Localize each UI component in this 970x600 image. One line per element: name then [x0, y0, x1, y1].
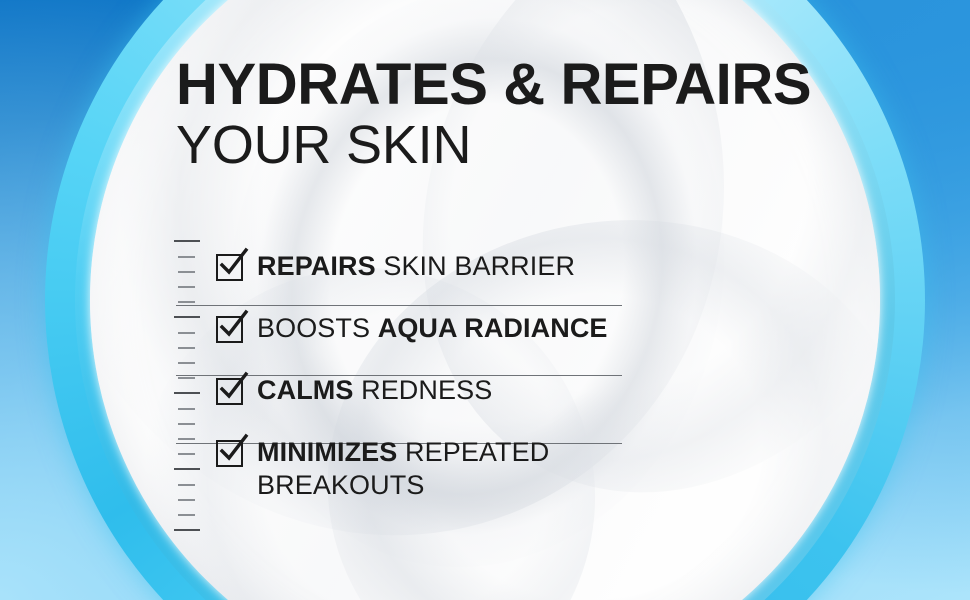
benefit-label: CALMS REDNESS	[257, 374, 492, 407]
benefit-label-bold: REPAIRS	[257, 251, 376, 281]
ruler-tick-minor	[178, 271, 195, 273]
ruler-tick-major	[174, 316, 200, 318]
benefit-label: MINIMIZES REPEATED BREAKOUTS	[257, 436, 587, 502]
ruler-tick-minor	[178, 453, 195, 455]
benefit-item-repairs: REPAIRS SKIN BARRIER	[216, 250, 686, 312]
ruler-tick-major	[174, 468, 200, 470]
content-layer: HYDRATES & REPAIRS YOUR SKIN	[0, 0, 970, 600]
benefit-label-rest: REDNESS	[354, 375, 493, 405]
ruler-tick-minor	[178, 377, 195, 379]
ruler-tick-minor	[178, 514, 195, 516]
promo-banner: HYDRATES & REPAIRS YOUR SKIN	[0, 0, 970, 600]
ruler-tick-minor	[178, 256, 195, 258]
ruler-tick-minor	[178, 499, 195, 501]
benefit-label-lead: BOOSTS	[257, 313, 378, 343]
benefit-label: BOOSTS AQUA RADIANCE	[257, 312, 608, 345]
ruler-tick-minor	[178, 423, 195, 425]
ruler-tick-major	[174, 392, 200, 394]
ruler-tick-minor	[178, 347, 195, 349]
headline-block: HYDRATES & REPAIRS YOUR SKIN	[176, 56, 876, 172]
ruler-tick-minor	[178, 408, 195, 410]
checkbox-checked-icon	[216, 378, 243, 405]
benefit-label-bold: AQUA RADIANCE	[378, 313, 608, 343]
headline-secondary: YOUR SKIN	[176, 118, 876, 172]
headline-primary: HYDRATES & REPAIRS	[176, 56, 876, 114]
ruler-tick-minor	[178, 484, 195, 486]
benefit-label: REPAIRS SKIN BARRIER	[257, 250, 575, 283]
ruler-tick-decoration	[174, 240, 200, 530]
ruler-tick-minor	[178, 438, 195, 440]
ruler-tick-minor	[178, 362, 195, 364]
benefit-item-calms: CALMS REDNESS	[216, 374, 686, 436]
ruler-tick-major	[174, 529, 200, 531]
benefit-label-bold: CALMS	[257, 375, 354, 405]
ruler-tick-minor	[178, 301, 195, 303]
benefit-item-boosts: BOOSTS AQUA RADIANCE	[216, 312, 686, 374]
checkbox-checked-icon	[216, 440, 243, 467]
ruler-tick-minor	[178, 286, 195, 288]
benefit-label-bold: MINIMIZES	[257, 437, 397, 467]
ruler-tick-major	[174, 240, 200, 242]
benefit-item-minimizes: MINIMIZES REPEATED BREAKOUTS	[216, 436, 686, 514]
benefits-checklist: REPAIRS SKIN BARRIER BOOSTS AQUA RADIANC…	[216, 250, 686, 514]
checkbox-checked-icon	[216, 254, 243, 281]
benefit-label-rest: SKIN BARRIER	[376, 251, 575, 281]
checkbox-checked-icon	[216, 316, 243, 343]
ruler-tick-minor	[178, 332, 195, 334]
